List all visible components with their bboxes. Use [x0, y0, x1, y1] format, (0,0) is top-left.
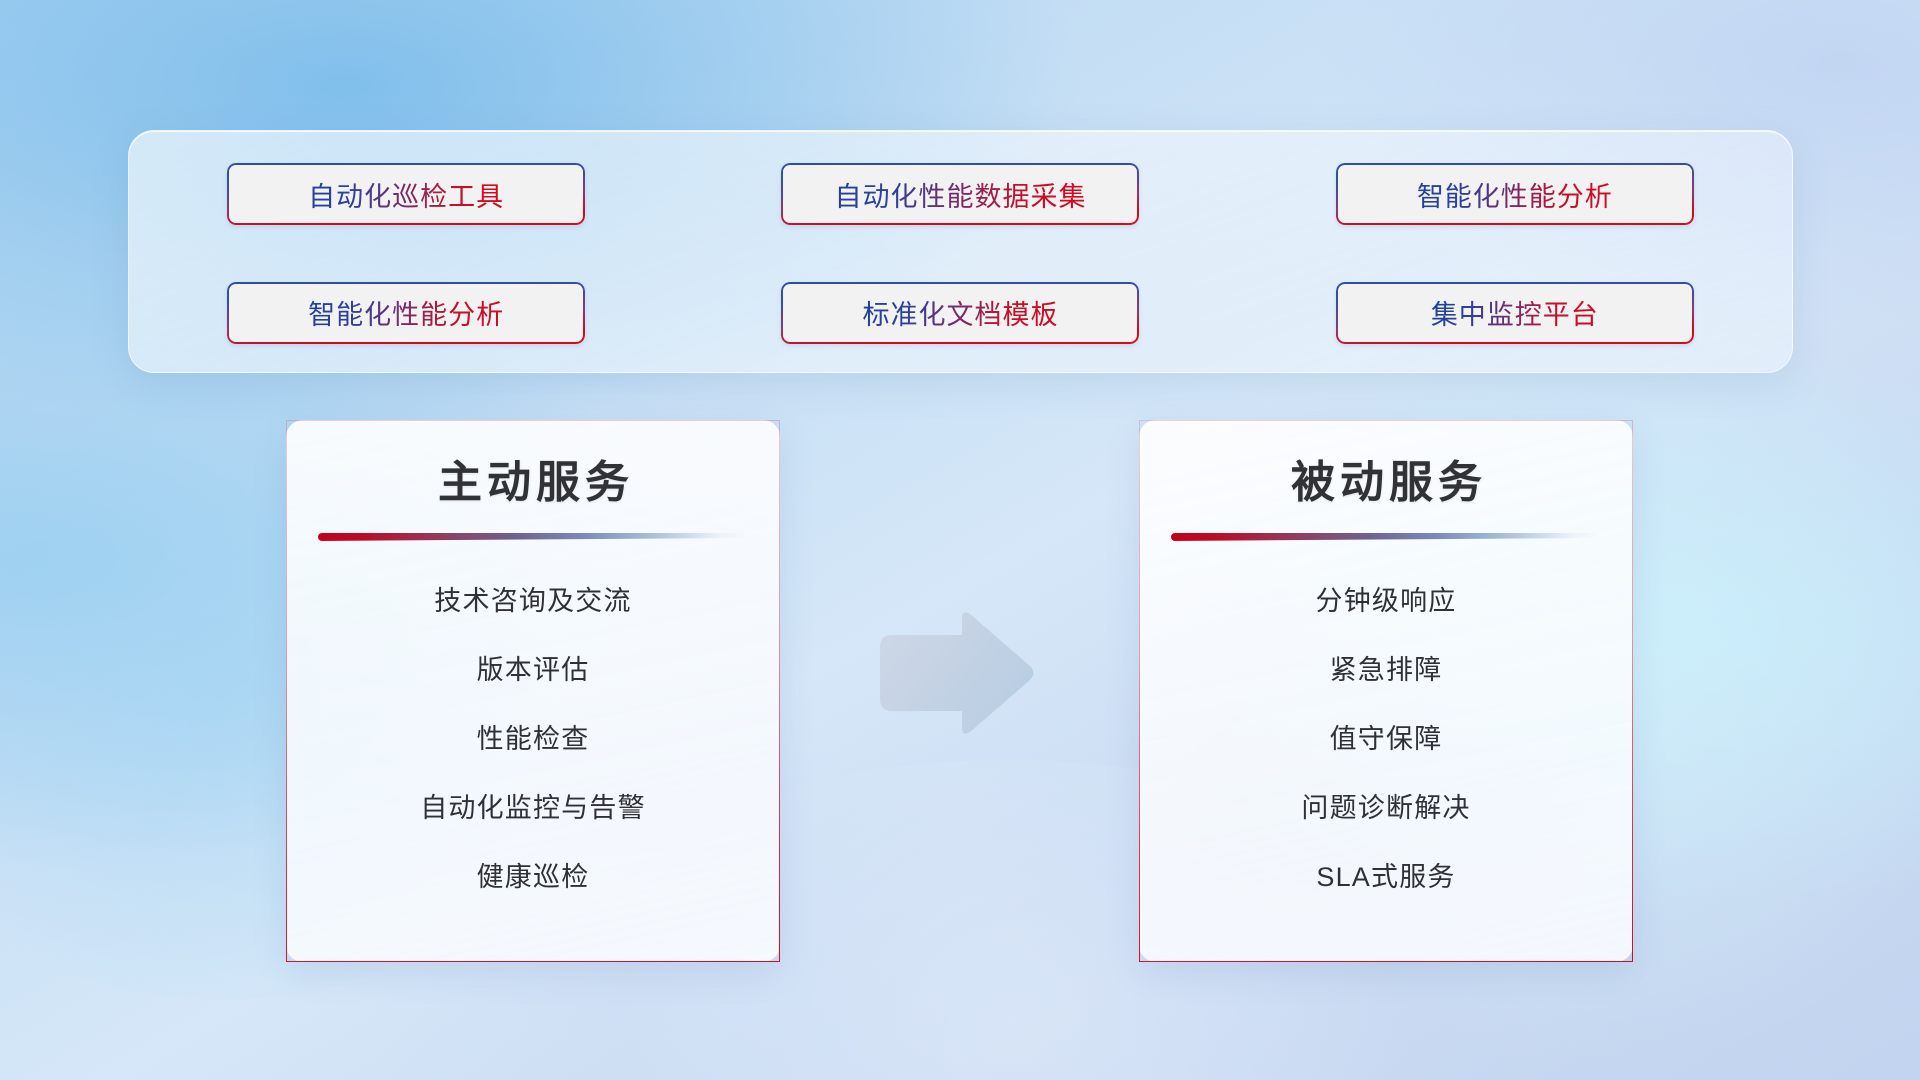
capability-tag[interactable]: 智能化性能分析	[227, 282, 585, 344]
list-item: 问题诊断解决	[1140, 774, 1632, 843]
reactive-service-card: 被动服务 分钟级响应 紧急排障 值守保障 问题诊断解决 SLA式服务	[1139, 420, 1633, 962]
capability-tag[interactable]: 自动化性能数据采集	[781, 163, 1139, 225]
capability-tag-label: 自动化巡检工具	[308, 175, 504, 214]
list-item: 健康巡检	[287, 843, 779, 912]
list-item: 紧急排障	[1140, 636, 1632, 705]
capability-tag-label: 智能化性能分析	[1417, 175, 1613, 214]
proactive-card-title: 主动服务	[438, 461, 634, 505]
list-item: 自动化监控与告警	[287, 774, 779, 843]
list-item: 性能检查	[287, 705, 779, 774]
reactive-card-inner: 被动服务 分钟级响应 紧急排障 值守保障 问题诊断解决 SLA式服务	[1140, 421, 1632, 961]
proactive-card-divider	[318, 533, 748, 541]
list-item: 技术咨询及交流	[287, 567, 779, 636]
capability-tags-panel: 自动化巡检工具 自动化性能数据采集 智能化性能分析 智能化性能分析 标准化文档模…	[128, 130, 1793, 373]
capability-tag-label: 集中监控平台	[1431, 293, 1599, 332]
list-item: 值守保障	[1140, 705, 1632, 774]
capability-tag[interactable]: 自动化巡检工具	[227, 163, 585, 225]
capability-tag-label: 智能化性能分析	[308, 293, 504, 332]
reactive-card-divider	[1171, 533, 1601, 541]
capability-tag-label: 自动化性能数据采集	[834, 175, 1086, 214]
infographic-stage: 自动化巡检工具 自动化性能数据采集 智能化性能分析 智能化性能分析 标准化文档模…	[0, 0, 1920, 1080]
reactive-service-list: 分钟级响应 紧急排障 值守保障 问题诊断解决 SLA式服务	[1140, 567, 1632, 912]
capability-tag[interactable]: 智能化性能分析	[1336, 163, 1694, 225]
capability-tag[interactable]: 集中监控平台	[1336, 282, 1694, 344]
proactive-service-list: 技术咨询及交流 版本评估 性能检查 自动化监控与告警 健康巡检	[287, 567, 779, 912]
capability-tag-label: 标准化文档模板	[862, 293, 1058, 332]
list-item: SLA式服务	[1140, 843, 1632, 912]
capability-tag[interactable]: 标准化文档模板	[781, 282, 1139, 344]
proactive-service-card: 主动服务 技术咨询及交流 版本评估 性能检查 自动化监控与告警 健康巡检	[286, 420, 780, 962]
list-item: 分钟级响应	[1140, 567, 1632, 636]
reactive-card-title: 被动服务	[1291, 461, 1487, 505]
proactive-card-inner: 主动服务 技术咨询及交流 版本评估 性能检查 自动化监控与告警 健康巡检	[287, 421, 779, 961]
right-arrow-icon	[874, 608, 1036, 738]
list-item: 版本评估	[287, 636, 779, 705]
